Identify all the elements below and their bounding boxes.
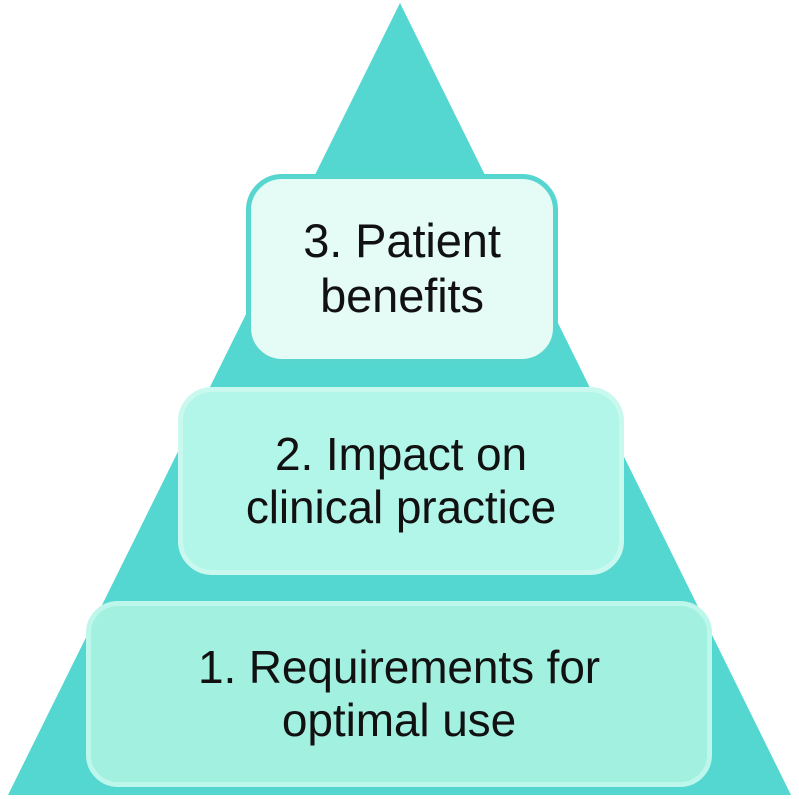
pyramid-level-3-patient-benefits[interactable]: 3. Patient benefits [246, 174, 558, 364]
pyramid-level-3-line-2: benefits [320, 269, 484, 322]
pyramid-level-1-line-1: 1. Requirements for [198, 641, 600, 693]
pyramid-level-2-label: 2. Impact on clinical practice [183, 428, 619, 535]
pyramid-level-3-label: 3. Patient benefits [251, 214, 553, 323]
pyramid-level-1-label: 1. Requirements for optimal use [91, 641, 707, 748]
pyramid-level-1-requirements-for-optimal-use[interactable]: 1. Requirements for optimal use [86, 601, 712, 787]
pyramid-level-2-impact-on-clinical-practice[interactable]: 2. Impact on clinical practice [178, 387, 624, 575]
pyramid-diagram: 3. Patient benefits 2. Impact on clinica… [0, 0, 799, 799]
pyramid-level-2-line-1: 2. Impact on [275, 428, 527, 480]
pyramid-level-1-line-2: optimal use [282, 694, 516, 746]
pyramid-level-2-line-2: clinical practice [246, 481, 556, 533]
pyramid-level-3-line-1: 3. Patient [303, 214, 501, 267]
